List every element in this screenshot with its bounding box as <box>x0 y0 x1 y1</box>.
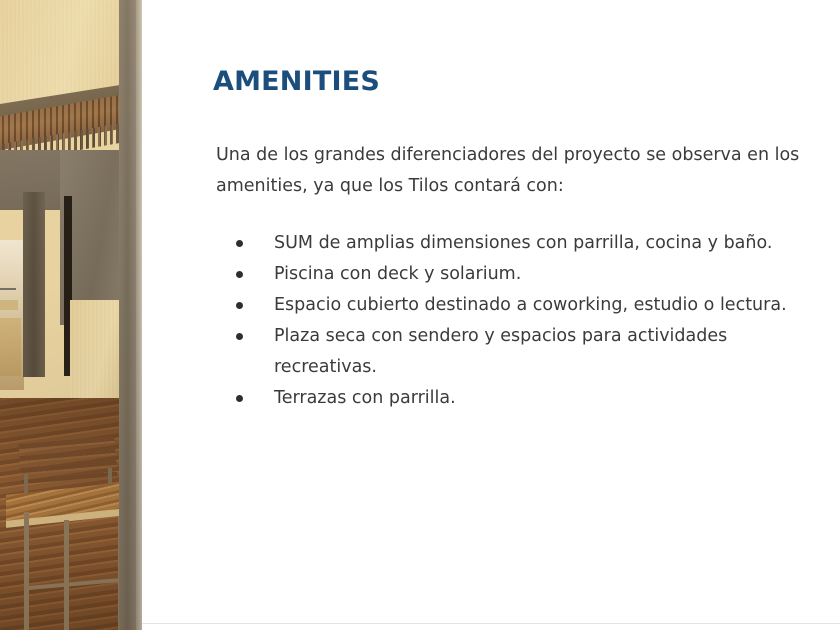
intro-paragraph: Una de los grandes diferenciadores del p… <box>216 140 840 202</box>
bullet-dot-icon <box>236 302 243 309</box>
table-leg-b <box>64 520 69 630</box>
list-item: Terrazas con parrilla. <box>216 383 840 414</box>
render-canvas <box>0 0 142 630</box>
amenities-list: SUM de amplias dimensiones con parrilla,… <box>216 228 840 414</box>
bottom-divider <box>142 623 840 624</box>
list-item-label: Plaza seca con sendero y espacios para a… <box>274 321 794 383</box>
list-item: Plaza seca con sendero y espacios para a… <box>216 321 840 383</box>
dark-column <box>23 192 45 377</box>
bullet-dot-icon <box>236 395 243 402</box>
interior-railing <box>0 288 16 290</box>
interior-furniture-cabinet <box>0 318 21 376</box>
list-item-label: Piscina con deck y solarium. <box>274 259 840 290</box>
intro-paragraph-line-2: amenities, ya que los Tilos contará con: <box>216 171 840 202</box>
slide-content: AMENITIES Una de los grandes diferenciad… <box>142 0 840 630</box>
outdoor-bench <box>18 436 117 484</box>
architectural-render-image <box>0 0 142 630</box>
intro-paragraph-line-1: Una de los grandes diferenciadores del p… <box>216 140 840 171</box>
bullet-dot-icon <box>236 333 243 340</box>
list-item-label: SUM de amplias dimensiones con parrilla,… <box>274 228 840 259</box>
slide: AMENITIES Una de los grandes diferenciad… <box>0 0 840 630</box>
list-item-label: Espacio cubierto destinado a coworking, … <box>274 290 840 321</box>
list-item: Piscina con deck y solarium. <box>216 259 840 290</box>
list-item: SUM de amplias dimensiones con parrilla,… <box>216 228 840 259</box>
list-item: Espacio cubierto destinado a coworking, … <box>216 290 840 321</box>
page-title: AMENITIES <box>213 66 380 97</box>
interior-furniture-top <box>0 300 18 310</box>
bullet-dot-icon <box>236 240 243 247</box>
table-leg-a <box>24 512 29 630</box>
bullet-dot-icon <box>236 271 243 278</box>
list-item-label: Terrazas con parrilla. <box>274 383 840 414</box>
